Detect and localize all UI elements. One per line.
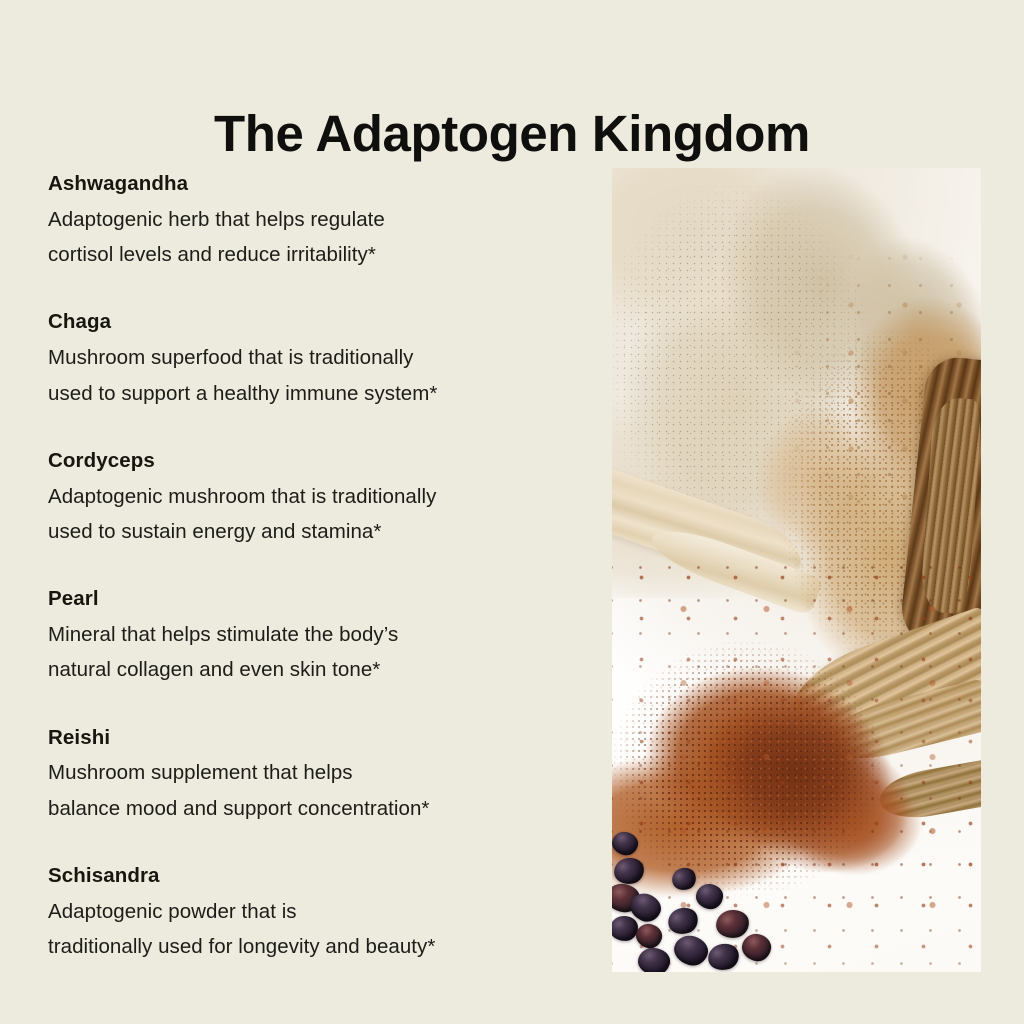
list-item-reishi: Reishi Mushroom supplement that helps ba… <box>48 724 588 826</box>
adaptogen-photo <box>612 168 981 972</box>
ingredient-description: Mushroom supplement that helps balance m… <box>48 755 588 826</box>
ingredient-name: Pearl <box>48 585 588 613</box>
list-item-cordyceps: Cordyceps Adaptogenic mushroom that is t… <box>48 447 588 549</box>
ingredient-name: Chaga <box>48 308 588 336</box>
ingredient-description: Mineral that helps stimulate the body’s … <box>48 617 588 688</box>
page-title: The Adaptogen Kingdom <box>0 103 1024 164</box>
ingredient-description: Adaptogenic herb that helps regulate cor… <box>48 202 588 273</box>
ingredient-description: Adaptogenic mushroom that is traditional… <box>48 479 588 550</box>
ingredient-name: Ashwagandha <box>48 170 588 198</box>
ingredient-name: Cordyceps <box>48 447 588 475</box>
ingredient-name: Reishi <box>48 724 588 752</box>
ingredient-description: Mushroom superfood that is traditionally… <box>48 340 588 411</box>
ingredient-list: Ashwagandha Adaptogenic herb that helps … <box>48 170 588 964</box>
poster-page: The Adaptogen Kingdom Ashwagandha Adapto… <box>0 0 1024 1024</box>
ingredient-description: Adaptogenic powder that is traditionally… <box>48 894 588 965</box>
list-item-ashwagandha: Ashwagandha Adaptogenic herb that helps … <box>48 170 588 272</box>
ingredient-name: Schisandra <box>48 862 588 890</box>
rust-powder-crumbs <box>612 548 981 968</box>
list-item-schisandra: Schisandra Adaptogenic powder that is tr… <box>48 862 588 964</box>
list-item-chaga: Chaga Mushroom superfood that is traditi… <box>48 308 588 410</box>
list-item-pearl: Pearl Mineral that helps stimulate the b… <box>48 585 588 687</box>
